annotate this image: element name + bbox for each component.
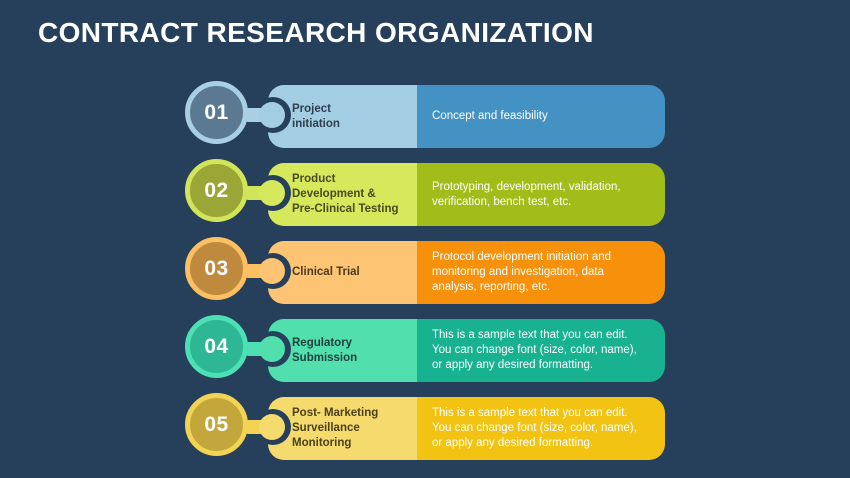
step-number: 05 [204, 414, 228, 435]
step-description: Protocol development initiation andmonit… [417, 241, 665, 304]
step-number-circle[interactable]: 03 [185, 237, 248, 300]
step-number-circle[interactable]: 05 [185, 393, 248, 456]
step-description-line: You can change font (size, color, name), [432, 343, 653, 358]
slide-canvas: CONTRACT RESEARCH ORGANIZATION Projectin… [0, 0, 850, 478]
connector-dot [259, 414, 285, 440]
step-label-line: Submission [292, 351, 409, 366]
step-description: Prototyping, development, validation,ver… [417, 163, 665, 226]
connector-dot [259, 336, 285, 362]
step-number-circle[interactable]: 04 [185, 315, 248, 378]
step-description-line: This is a sample text that you can edit. [432, 328, 653, 343]
step-description: This is a sample text that you can edit.… [417, 319, 665, 382]
step-number: 02 [204, 180, 228, 201]
step-description-line: monitoring and investigation, data [432, 265, 653, 280]
step-description-line: Prototyping, development, validation, [432, 180, 653, 195]
step-description-line: analysis, reporting, etc. [432, 280, 653, 295]
step-description-line: Concept and feasibility [432, 109, 653, 124]
step-label-line: Pre-Clinical Testing [292, 202, 409, 217]
step-label-line: initiation [292, 117, 409, 132]
step-number-circle[interactable]: 01 [185, 81, 248, 144]
step-description-line: verification, bench test, etc. [432, 195, 653, 210]
step-label-line: Surveillance [292, 421, 409, 436]
step-label-line: Monitoring [292, 436, 409, 451]
page-title: CONTRACT RESEARCH ORGANIZATION [38, 14, 594, 52]
connector-dot [259, 258, 285, 284]
step-bar[interactable]: Clinical TrialProtocol development initi… [268, 241, 665, 304]
process-step-row[interactable]: RegulatorySubmissionThis is a sample tex… [0, 319, 850, 382]
connector-dot [259, 102, 285, 128]
step-number-circle[interactable]: 02 [185, 159, 248, 222]
step-description-line: or apply any desired formatting. [432, 436, 653, 451]
process-step-row[interactable]: Clinical TrialProtocol development initi… [0, 241, 850, 304]
step-bar[interactable]: ProductDevelopment &Pre-Clinical Testing… [268, 163, 665, 226]
step-description-line: You can change font (size, color, name), [432, 421, 653, 436]
step-label-line: Regulatory [292, 336, 409, 351]
step-number: 01 [204, 102, 228, 123]
step-description: Concept and feasibility [417, 85, 665, 148]
connector-dot [259, 180, 285, 206]
step-label-line: Clinical Trial [292, 265, 409, 280]
step-bar[interactable]: RegulatorySubmissionThis is a sample tex… [268, 319, 665, 382]
step-description-line: This is a sample text that you can edit. [432, 406, 653, 421]
process-step-list: ProjectinitiationConcept and feasibility… [0, 85, 850, 475]
step-description: This is a sample text that you can edit.… [417, 397, 665, 460]
step-number: 03 [204, 258, 228, 279]
step-label-line: Development & [292, 187, 409, 202]
step-description-line: Protocol development initiation and [432, 250, 653, 265]
process-step-row[interactable]: Post- MarketingSurveillanceMonitoringThi… [0, 397, 850, 460]
step-label-line: Post- Marketing [292, 406, 409, 421]
process-step-row[interactable]: ProductDevelopment &Pre-Clinical Testing… [0, 163, 850, 226]
step-bar[interactable]: ProjectinitiationConcept and feasibility [268, 85, 665, 148]
step-bar[interactable]: Post- MarketingSurveillanceMonitoringThi… [268, 397, 665, 460]
step-label-line: Project [292, 102, 409, 117]
process-step-row[interactable]: ProjectinitiationConcept and feasibility… [0, 85, 850, 148]
step-label-line: Product [292, 172, 409, 187]
step-number: 04 [204, 336, 228, 357]
step-description-line: or apply any desired formatting. [432, 358, 653, 373]
